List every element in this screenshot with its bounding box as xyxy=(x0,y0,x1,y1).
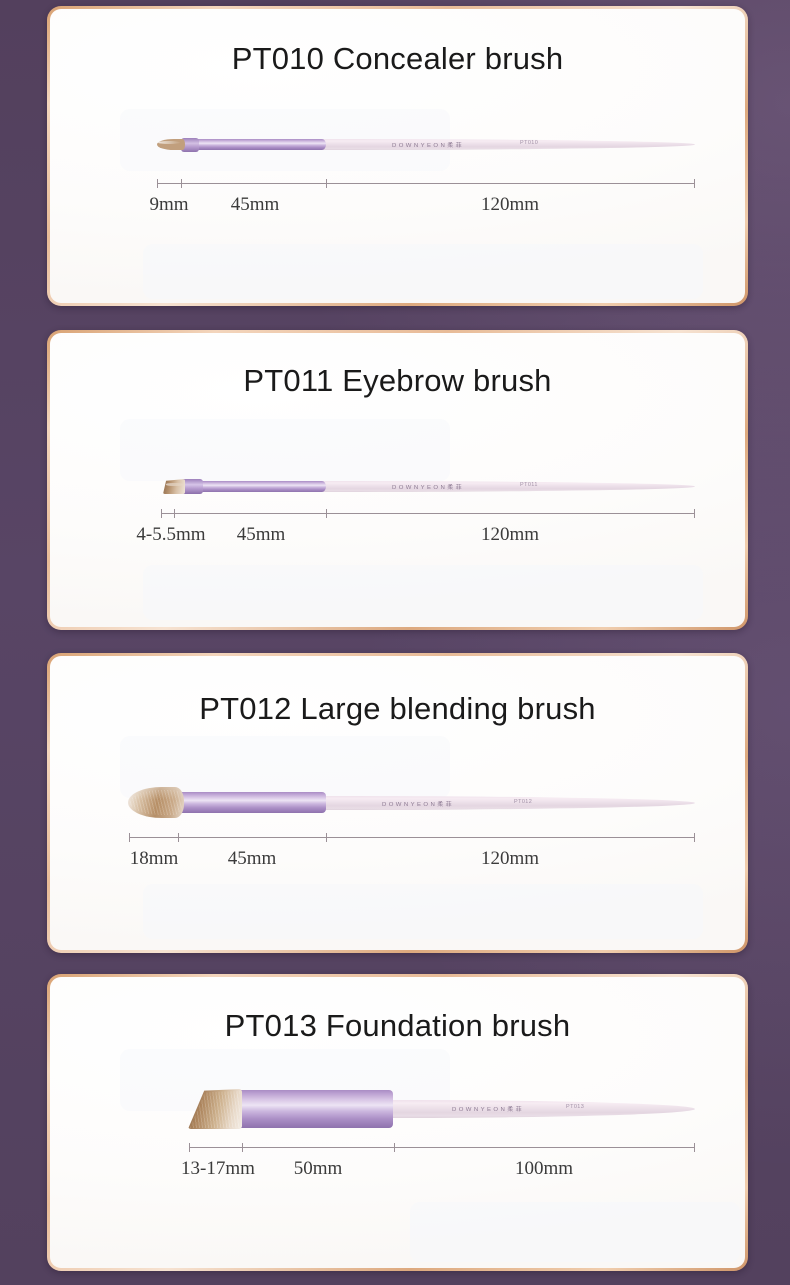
ruler-tick xyxy=(174,509,175,518)
ruler-baseline xyxy=(129,837,695,838)
ruler-tick xyxy=(694,1143,695,1152)
brush-handle xyxy=(320,481,695,492)
product-code-text: PT011 xyxy=(520,482,538,488)
product-card-pt013[interactable]: PT013 Foundation brush DOWNYEON柔菲 PT013 … xyxy=(47,974,748,1271)
ruler-tick xyxy=(157,179,158,188)
ruler-tick xyxy=(326,509,327,518)
dimension-label-brush-head-width: 18mm xyxy=(113,848,195,870)
card-surface: PT012 Large blending brush DOWNYEON柔菲 PT… xyxy=(50,656,745,950)
brush-bristles xyxy=(163,479,185,494)
brush-illustration-pt010: DOWNYEON柔菲 PT010 xyxy=(50,9,745,303)
ruler-baseline xyxy=(189,1147,695,1148)
ruler-tick xyxy=(394,1143,395,1152)
dimension-label-handle-length: 120mm xyxy=(470,194,550,216)
ruler-tick xyxy=(161,509,162,518)
brand-text: DOWNYEON柔菲 xyxy=(382,799,454,807)
bristle-highlight xyxy=(166,483,183,486)
brush-illustration-pt013: DOWNYEON柔菲 PT013 xyxy=(50,977,745,1268)
brush-ferrule xyxy=(237,1090,393,1128)
dimension-label-ferrule-length: 45mm xyxy=(212,848,292,870)
ruler-tick xyxy=(694,509,695,518)
ruler-tick xyxy=(242,1143,243,1152)
brush-handle xyxy=(320,139,695,150)
card-surface: PT011 Eyebrow brush DOWNYEON柔菲 PT011 4-5… xyxy=(50,333,745,627)
ruler-tick xyxy=(189,1143,190,1152)
dimension-label-brush-head-length: 9mm xyxy=(133,194,205,216)
dimension-label-ferrule-length: 45mm xyxy=(221,524,301,546)
dimension-label-ferrule-length: 50mm xyxy=(278,1158,358,1180)
dimension-label-handle-length: 100mm xyxy=(504,1158,584,1180)
dimension-label-brush-head-width: 4-5.5mm xyxy=(123,524,219,546)
brush-illustration-pt011: DOWNYEON柔菲 PT011 xyxy=(50,333,745,627)
bristle-highlight xyxy=(158,141,180,144)
ruler-baseline xyxy=(157,183,695,184)
product-card-pt010[interactable]: PT010 Concealer brush DOWNYEON柔菲 PT010 xyxy=(47,6,748,306)
brush-ferrule xyxy=(178,792,326,813)
brand-text: DOWNYEON柔菲 xyxy=(392,140,464,148)
product-card-stack: PT010 Concealer brush DOWNYEON柔菲 PT010 xyxy=(0,0,790,1285)
dimension-label-brush-head-width: 13-17mm xyxy=(170,1158,266,1180)
brand-text: DOWNYEON柔菲 xyxy=(452,1104,524,1112)
ruler-tick xyxy=(181,179,182,188)
product-card-pt011[interactable]: PT011 Eyebrow brush DOWNYEON柔菲 PT011 4-5… xyxy=(47,330,748,630)
brush-handle xyxy=(322,796,695,810)
ruler-baseline xyxy=(161,513,695,514)
ruler-tick xyxy=(694,179,695,188)
ruler-tick xyxy=(326,833,327,842)
product-code-text: PT012 xyxy=(514,799,532,805)
dimension-label-handle-length: 120mm xyxy=(470,848,550,870)
dimension-label-ferrule-length: 45mm xyxy=(215,194,295,216)
ruler-tick xyxy=(326,179,327,188)
ruler-tick xyxy=(694,833,695,842)
brush-ferrule xyxy=(181,139,326,150)
product-code-text: PT013 xyxy=(566,1104,584,1110)
ruler-tick xyxy=(129,833,130,842)
product-card-pt012[interactable]: PT012 Large blending brush DOWNYEON柔菲 PT… xyxy=(47,653,748,953)
brush-handle xyxy=(386,1100,695,1118)
brand-text: DOWNYEON柔菲 xyxy=(392,482,464,490)
product-code-text: PT010 xyxy=(520,140,538,146)
brush-illustration-pt012: DOWNYEON柔菲 PT012 xyxy=(50,656,745,950)
ruler-tick xyxy=(178,833,179,842)
dimension-label-handle-length: 120mm xyxy=(470,524,550,546)
card-surface: PT010 Concealer brush DOWNYEON柔菲 PT010 xyxy=(50,9,745,303)
card-surface: PT013 Foundation brush DOWNYEON柔菲 PT013 … xyxy=(50,977,745,1268)
